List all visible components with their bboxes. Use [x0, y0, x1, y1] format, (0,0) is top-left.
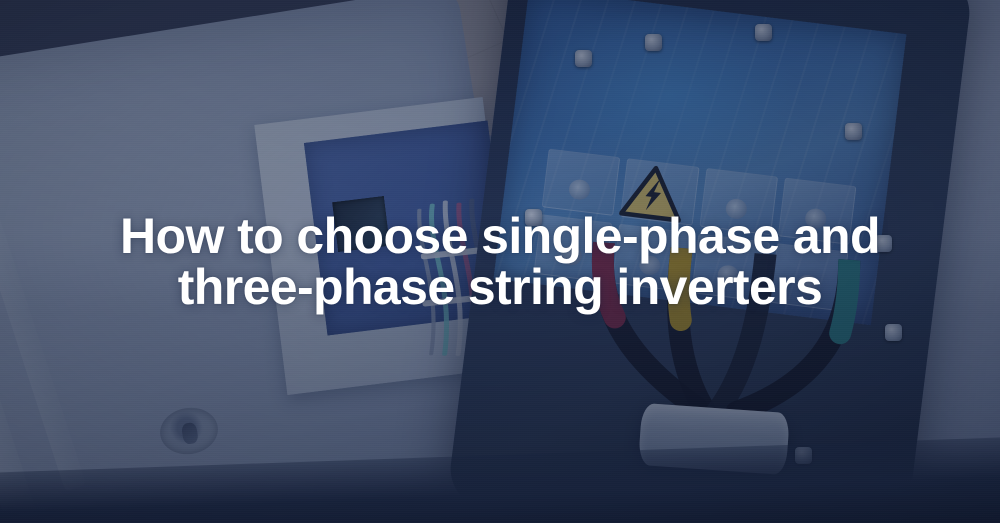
hero-title-line-2: three-phase string inverters	[120, 262, 880, 313]
hero-title-overlay: How to choose single-phase and three-pha…	[0, 0, 1000, 523]
hero-title: How to choose single-phase and three-pha…	[120, 211, 880, 313]
hero-title-line-1: How to choose single-phase and	[120, 211, 880, 262]
hero-banner: How to choose single-phase and three-pha…	[0, 0, 1000, 523]
